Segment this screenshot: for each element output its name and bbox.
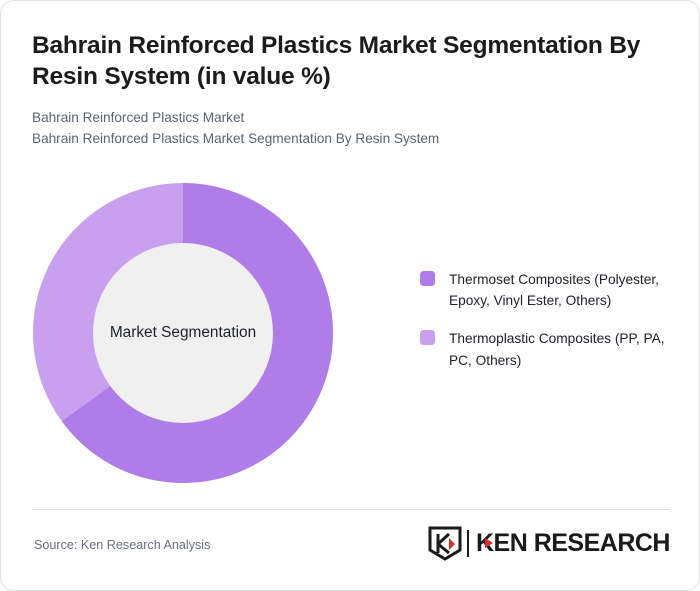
- subtitle-line-2: Bahrain Reinforced Plastics Market Segme…: [32, 129, 662, 150]
- legend-item[interactable]: Thermoplastic Composites (PP, PA, PC, Ot…: [420, 328, 672, 370]
- ken-research-shield-icon: [428, 525, 462, 561]
- legend-swatch: [420, 271, 435, 286]
- donut-chart: Market Segmentation: [33, 183, 333, 483]
- legend-label: Thermoplastic Composites (PP, PA, PC, Ot…: [449, 328, 672, 370]
- page-title: Bahrain Reinforced Plastics Market Segme…: [32, 31, 662, 93]
- brand-letter-k: K: [476, 531, 494, 556]
- chart-header: Bahrain Reinforced Plastics Market Segme…: [32, 31, 662, 149]
- donut-svg: [33, 183, 333, 483]
- footer-divider: [32, 509, 670, 510]
- chart-legend: Thermoset Composites (Polyester, Epoxy, …: [420, 269, 672, 388]
- subtitle-line-1: Bahrain Reinforced Plastics Market: [32, 108, 662, 129]
- brand-text: K EN RESEARCH: [476, 531, 670, 556]
- logo-divider: [467, 530, 469, 557]
- legend-label: Thermoset Composites (Polyester, Epoxy, …: [449, 269, 672, 311]
- chart-card: Bahrain Reinforced Plastics Market Segme…: [0, 0, 700, 591]
- brand-name-rest: EN RESEARCH: [494, 531, 670, 556]
- ken-research-logo: K EN RESEARCH: [428, 525, 670, 561]
- legend-item[interactable]: Thermoset Composites (Polyester, Epoxy, …: [420, 269, 672, 311]
- brand-red-triangle-icon: [485, 538, 493, 548]
- subtitle-block: Bahrain Reinforced Plastics Market Bahra…: [32, 108, 662, 150]
- donut-hole: [93, 243, 273, 423]
- source-text: Source: Ken Research Analysis: [34, 538, 210, 552]
- legend-swatch: [420, 330, 435, 345]
